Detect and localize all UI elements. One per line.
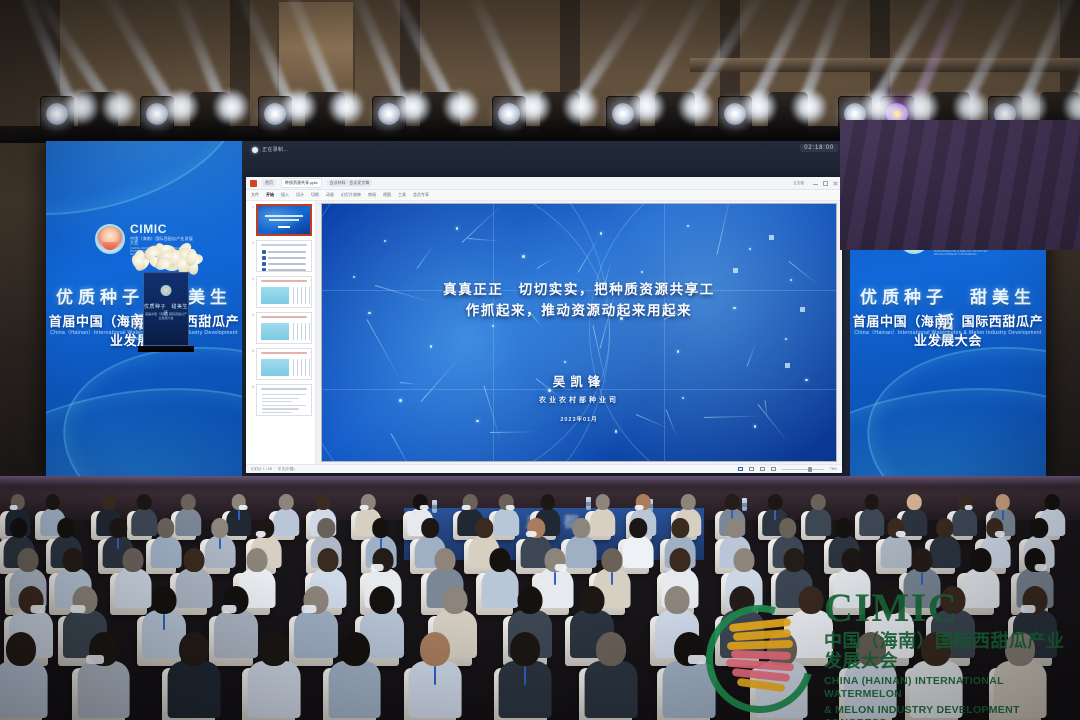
audience-member-torso bbox=[0, 661, 47, 719]
lanyard bbox=[219, 538, 221, 549]
audience-member-head bbox=[318, 518, 336, 538]
network-square bbox=[733, 268, 738, 273]
audience-member-head bbox=[17, 548, 38, 572]
light-hotspot bbox=[100, 88, 138, 126]
audience-member-head bbox=[784, 548, 805, 572]
face-mask bbox=[526, 531, 537, 537]
audience-member-head bbox=[1045, 494, 1060, 510]
audience-member-head bbox=[601, 548, 622, 572]
network-node bbox=[615, 430, 618, 433]
audience-member bbox=[166, 632, 221, 718]
slide-thumbnail-row[interactable]: 2 bbox=[250, 240, 312, 272]
audience-member bbox=[408, 632, 463, 718]
light-hotspot bbox=[62, 88, 100, 126]
audience-member-head bbox=[316, 494, 331, 510]
capture-top-bar: 正在录制… 02:18:00 bbox=[242, 141, 850, 179]
podium-flower-arrangement bbox=[128, 242, 208, 272]
lanyard bbox=[434, 666, 436, 685]
lanyard bbox=[163, 614, 165, 630]
audience-member-head bbox=[420, 632, 450, 666]
face-mask bbox=[995, 531, 1006, 537]
audience-member bbox=[0, 632, 48, 718]
audience-member-head bbox=[664, 586, 689, 614]
cimic-emblem-icon bbox=[95, 224, 125, 254]
slide-thumbnail-number: 1 bbox=[250, 204, 254, 209]
watermark-english-line2: & MELON INDUSTRY DEVELOPMENT CONGRESS bbox=[824, 704, 1072, 720]
ribbon-tab-0[interactable]: 文件 bbox=[251, 192, 259, 198]
watermark-seed-stripe bbox=[727, 640, 793, 650]
audience-member-head bbox=[6, 632, 36, 666]
light-hotspot bbox=[212, 88, 250, 126]
cimic-watermark-mark bbox=[706, 605, 814, 713]
shared-desktop-capture: 正在录制… 02:18:00 首页 种质资源共享.pptx 会议材料 · 会议发… bbox=[242, 141, 850, 476]
ribbon-tab-7[interactable]: 审阅 bbox=[368, 192, 376, 198]
audience-member-head bbox=[422, 518, 440, 538]
ppt-body: 123456 真真正正 切切实实，把种质资源共享工 bbox=[246, 201, 842, 464]
ribbon-tab-6[interactable]: 幻灯片放映 bbox=[341, 192, 361, 198]
audience-member-head bbox=[317, 548, 338, 572]
light-hotspot bbox=[280, 88, 318, 126]
audience-member-torso bbox=[168, 661, 221, 719]
light-hotspot bbox=[740, 88, 778, 126]
audience-member-head bbox=[10, 518, 28, 538]
audience-member-head bbox=[372, 518, 390, 538]
audience-member-head bbox=[101, 494, 116, 510]
slide-thumbnail[interactable] bbox=[256, 240, 312, 272]
ribbon-tab-8[interactable]: 视图 bbox=[383, 192, 391, 198]
face-mask bbox=[86, 655, 104, 665]
watermark-seed-stripe bbox=[731, 650, 791, 660]
slide-headline-line2: 作抓起来，推动资源动起来用起来 bbox=[466, 303, 693, 318]
audience-member-head bbox=[670, 548, 691, 572]
recording-indicator: 正在录制… bbox=[252, 146, 289, 153]
audience-member-head bbox=[672, 518, 690, 538]
ribbon-tab-2[interactable]: 插入 bbox=[281, 192, 289, 198]
slide-thumbnail-row[interactable]: 1 bbox=[250, 204, 312, 236]
right-banner-subtitle: China（Hainan）International Watermelon & … bbox=[850, 329, 1046, 342]
conference-stage-photo: CIMIC 中国（海南）国际西甜瓜产业发展大会 CHINA (HAINAN) I… bbox=[0, 0, 1080, 720]
audience-member-head bbox=[434, 548, 455, 572]
face-mask bbox=[222, 605, 237, 613]
slide-edit-stage: 真真正正 切切实实，把种质资源共享工 作抓起来，推动资源动起来用起来 吴凯锋 农… bbox=[316, 201, 842, 464]
face-mask bbox=[688, 655, 706, 665]
slide-thumbnail-number: 2 bbox=[250, 240, 254, 245]
light-hotspot bbox=[394, 88, 432, 126]
slide-thumbnail[interactable] bbox=[256, 312, 312, 344]
audience-member-head bbox=[1030, 518, 1048, 538]
audience-member-head bbox=[907, 494, 922, 510]
maximize-icon[interactable] bbox=[823, 181, 828, 186]
audience-member-head bbox=[340, 632, 370, 666]
speaking-podium: 优质种子 甜美生活 首届中国（海南）国际西甜瓜产业发展大会 bbox=[128, 242, 204, 352]
ribbon-tab-9[interactable]: 工具 bbox=[398, 192, 406, 198]
audience-member bbox=[76, 632, 131, 718]
audience-member bbox=[246, 632, 301, 718]
ribbon-tab-3[interactable]: 设计 bbox=[296, 192, 304, 198]
ribbon-tab-10[interactable]: 会员专享 bbox=[413, 192, 429, 198]
face-mask bbox=[9, 505, 18, 510]
audience-member-head bbox=[734, 548, 755, 572]
slide-thumbnail-number: 6 bbox=[250, 384, 254, 389]
face-mask bbox=[301, 605, 316, 613]
audience-member-head bbox=[727, 518, 745, 538]
cloud-document-button[interactable]: 云文档 bbox=[793, 181, 804, 186]
face-mask bbox=[30, 605, 45, 613]
face-mask bbox=[555, 564, 568, 571]
slide-thumbnail[interactable] bbox=[256, 348, 312, 380]
slide-thumbnail[interactable] bbox=[256, 204, 312, 236]
face-mask bbox=[896, 531, 907, 537]
watermark-acronym: CIMIC bbox=[824, 588, 1072, 628]
watermark-seed-icon bbox=[723, 619, 801, 699]
ppt-tab-secondary[interactable]: 会议材料 · 会议发言稿 bbox=[327, 179, 373, 187]
close-icon[interactable] bbox=[833, 181, 838, 186]
network-node bbox=[677, 350, 680, 353]
face-mask bbox=[239, 505, 248, 510]
cimic-watermark-logo: CIMIC 中国（海南）国际西甜瓜产业发展大会 CHINA (HAINAN) I… bbox=[706, 603, 1072, 715]
session-timer: 02:18:00 bbox=[800, 144, 838, 152]
light-hotspot bbox=[677, 88, 715, 126]
audience-member-head bbox=[279, 494, 294, 510]
lanyard bbox=[524, 666, 526, 685]
powerpoint-icon bbox=[250, 180, 257, 187]
podium-logo-icon bbox=[161, 285, 172, 296]
ppt-tab-document[interactable]: 种质资源共享.pptx bbox=[281, 178, 322, 188]
slide-thumbnail-rail[interactable]: 123456 bbox=[246, 201, 316, 464]
audience-member-head bbox=[137, 494, 152, 510]
podium-base bbox=[138, 346, 194, 352]
slide-presenter-name: 吴凯锋 bbox=[322, 371, 836, 390]
slide-thumbnail-number: 3 bbox=[250, 276, 254, 281]
audience-member-head bbox=[865, 494, 880, 510]
audience-member-head bbox=[835, 518, 853, 538]
record-dot-icon bbox=[252, 147, 258, 153]
face-mask bbox=[506, 505, 515, 510]
audience-member-head bbox=[259, 632, 289, 666]
face-mask bbox=[360, 505, 369, 510]
audience-member-head bbox=[517, 586, 542, 614]
network-node bbox=[399, 399, 402, 402]
audience-member-head bbox=[596, 632, 626, 666]
audience-member-head bbox=[970, 548, 991, 572]
slide-thumbnail-row[interactable]: 4 bbox=[250, 312, 312, 344]
audience-member-head bbox=[45, 494, 60, 510]
audience-member-head bbox=[579, 586, 604, 614]
light-hotspot bbox=[790, 88, 828, 126]
network-square bbox=[769, 235, 774, 240]
audience-member-head bbox=[996, 494, 1011, 510]
slide-thumbnail-number: 5 bbox=[250, 348, 254, 353]
ppt-tab-home[interactable]: 首页 bbox=[262, 179, 276, 187]
slide-thumbnail-number: 4 bbox=[250, 312, 254, 317]
ribbon-tab-4[interactable]: 切换 bbox=[311, 192, 319, 198]
slide-thumbnail[interactable] bbox=[256, 384, 312, 416]
audience-member-torso bbox=[585, 661, 638, 719]
audience-member-head bbox=[540, 494, 555, 510]
slide-thumbnail-row[interactable]: 6 bbox=[250, 384, 312, 416]
audience-member-head bbox=[681, 494, 696, 510]
light-hotspot bbox=[514, 88, 552, 126]
audience-member bbox=[583, 632, 638, 718]
network-square bbox=[785, 363, 790, 368]
network-square bbox=[800, 307, 805, 312]
face-mask bbox=[371, 564, 384, 571]
audience-member bbox=[498, 632, 553, 718]
watermark-english-line1: CHINA (HAINAN) INTERNATIONAL WATERMELON bbox=[824, 675, 1072, 701]
ppt-title-bar: 首页 种质资源共享.pptx 会议材料 · 会议发言稿 云文档 bbox=[246, 177, 842, 190]
audience-member-torso bbox=[328, 661, 381, 719]
light-hotspot bbox=[327, 88, 365, 126]
audience-member-head bbox=[779, 518, 797, 538]
audience-member-head bbox=[57, 518, 75, 538]
face-mask bbox=[71, 605, 86, 613]
audience-member-head bbox=[489, 548, 510, 572]
light-hotspot bbox=[442, 88, 480, 126]
light-hotspot bbox=[562, 88, 600, 126]
lanyard bbox=[238, 510, 240, 519]
network-node bbox=[522, 255, 525, 258]
audience-member-head bbox=[211, 518, 229, 538]
ribbon-tab-1[interactable]: 开始 bbox=[266, 192, 274, 198]
audience-member-head bbox=[912, 548, 933, 572]
audience-member-head bbox=[183, 548, 204, 572]
audience-member-head bbox=[811, 494, 826, 510]
network-node bbox=[754, 425, 757, 428]
ribbon-tab-5[interactable]: 动画 bbox=[326, 192, 334, 198]
network-node bbox=[456, 227, 459, 230]
ppt-ribbon-tabs[interactable]: 文件开始插入设计切换动画幻灯片放映审阅视图工具会员专享 bbox=[246, 190, 842, 201]
slide-thumbnail-row[interactable]: 3 bbox=[250, 276, 312, 308]
recording-label: 正在录制… bbox=[262, 146, 289, 153]
audience-member-head bbox=[936, 518, 954, 538]
audience-member-torso bbox=[77, 661, 130, 719]
powerpoint-window[interactable]: 首页 种质资源共享.pptx 会议材料 · 会议发言稿 云文档 文件开始插入设计… bbox=[246, 177, 842, 473]
lanyard bbox=[554, 572, 556, 585]
face-mask bbox=[420, 505, 429, 510]
wall-ledge bbox=[690, 58, 1080, 72]
lanyard bbox=[611, 572, 613, 585]
audience-member-head bbox=[179, 632, 209, 666]
audience-member bbox=[327, 632, 382, 718]
audience-member-head bbox=[157, 518, 175, 538]
network-link bbox=[490, 431, 537, 433]
audience-member-head bbox=[573, 518, 591, 538]
light-hotspot bbox=[628, 88, 666, 126]
audience-member-head bbox=[62, 548, 83, 572]
audience-member-head bbox=[369, 586, 394, 614]
current-slide-canvas[interactable]: 真真正正 切切实实，把种质资源共享工 作抓起来，推动资源动起来用起来 吴凯锋 农… bbox=[322, 204, 836, 461]
audience-member-head bbox=[510, 632, 540, 666]
slide-headline: 真真正正 切切实实，把种质资源共享工 作抓起来，推动资源动起来用起来 bbox=[348, 279, 811, 322]
audience-member-head bbox=[246, 548, 267, 572]
audience-member-torso bbox=[247, 661, 300, 719]
slide-headline-line1: 真真正正 切切实实，把种质资源共享工 bbox=[443, 282, 715, 297]
slide-thumbnail[interactable] bbox=[256, 276, 312, 308]
face-mask bbox=[462, 505, 471, 510]
audience-member-head bbox=[475, 518, 493, 538]
audience-member-head bbox=[725, 494, 740, 510]
audience-member-head bbox=[630, 518, 648, 538]
audience-member-head bbox=[109, 518, 127, 538]
lanyard bbox=[921, 572, 923, 585]
face-mask bbox=[635, 505, 644, 510]
venue-carpet bbox=[840, 120, 1080, 250]
audience-member-head bbox=[841, 548, 862, 572]
audience-member-head bbox=[768, 494, 783, 510]
minimize-icon[interactable] bbox=[813, 182, 818, 185]
network-node bbox=[620, 317, 623, 320]
network-node bbox=[805, 379, 808, 382]
network-node bbox=[733, 307, 736, 310]
face-mask bbox=[1034, 564, 1047, 571]
slide-thumbnail-row[interactable]: 5 bbox=[250, 348, 312, 380]
watermark-chinese: 中国（海南）国际西甜瓜产业发展大会 bbox=[824, 631, 1072, 672]
audience-member-head bbox=[181, 494, 196, 510]
audience-member-head bbox=[151, 586, 176, 614]
cimic-emblem-acronym: CIMIC bbox=[130, 223, 193, 235]
face-mask bbox=[964, 505, 973, 510]
podium-subtitle: 首届中国（海南）国际西甜瓜产业发展大会 bbox=[144, 312, 188, 320]
podium-front-panel: 优质种子 甜美生活 首届中国（海南）国际西甜瓜产业发展大会 bbox=[143, 272, 189, 346]
audience-member-head bbox=[442, 586, 467, 614]
audience-member-head bbox=[123, 548, 144, 572]
audience-member-head bbox=[595, 494, 610, 510]
light-hotspot bbox=[162, 88, 200, 126]
face-mask bbox=[256, 531, 267, 537]
